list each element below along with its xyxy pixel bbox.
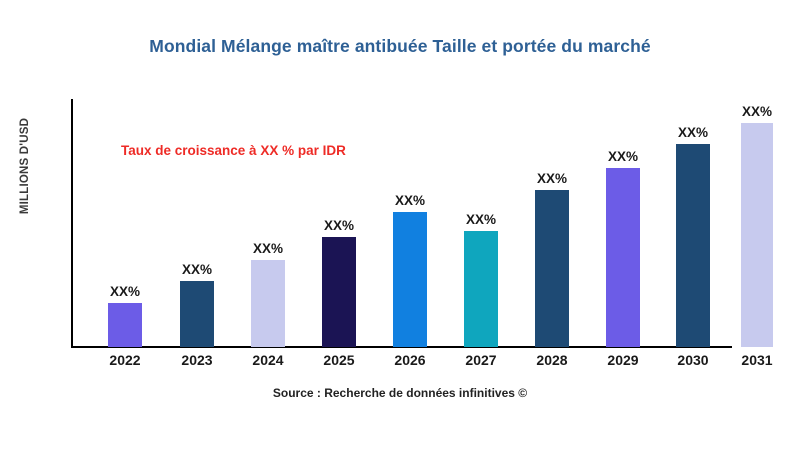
bar-value-label: XX% xyxy=(110,284,140,299)
bar-2026[interactable] xyxy=(393,212,427,347)
bar-value-label: XX% xyxy=(182,262,212,277)
x-tick-label-2029: 2029 xyxy=(593,352,653,368)
bar-group: XX% xyxy=(741,123,773,347)
bar-value-label: XX% xyxy=(466,212,496,227)
bar-group: XX% xyxy=(535,190,569,347)
bar-chart-figure: Mondial Mélange maître antibuée Taille e… xyxy=(0,0,800,450)
bar-value-label: XX% xyxy=(678,125,708,140)
x-tick-label-2025: 2025 xyxy=(309,352,369,368)
bar-group: XX% xyxy=(108,303,142,347)
bar-2024[interactable] xyxy=(251,260,285,347)
x-tick-label-2024: 2024 xyxy=(238,352,298,368)
source-note: Source : Recherche de données infinitive… xyxy=(0,386,800,400)
bar-value-label: XX% xyxy=(253,241,283,256)
bar-group: XX% xyxy=(676,144,710,347)
bar-2029[interactable] xyxy=(606,168,640,347)
bar-group: XX% xyxy=(180,281,214,347)
plot-area: XX%XX%XX%XX%XX%XX%XX%XX%XX%XX% xyxy=(0,0,800,450)
bar-group: XX% xyxy=(393,212,427,347)
bar-2025[interactable] xyxy=(322,237,356,347)
x-tick-label-2022: 2022 xyxy=(95,352,155,368)
x-tick-label-2031: 2031 xyxy=(727,352,787,368)
bar-value-label: XX% xyxy=(742,104,772,119)
bar-value-label: XX% xyxy=(537,171,567,186)
bar-value-label: XX% xyxy=(324,218,354,233)
bar-group: XX% xyxy=(251,260,285,347)
bar-value-label: XX% xyxy=(608,149,638,164)
bar-2027[interactable] xyxy=(464,231,498,347)
bar-2022[interactable] xyxy=(108,303,142,347)
bar-2023[interactable] xyxy=(180,281,214,347)
bar-2030[interactable] xyxy=(676,144,710,347)
x-tick-label-2023: 2023 xyxy=(167,352,227,368)
x-tick-label-2027: 2027 xyxy=(451,352,511,368)
bar-group: XX% xyxy=(464,231,498,347)
bar-group: XX% xyxy=(322,237,356,347)
bar-2028[interactable] xyxy=(535,190,569,347)
bar-group: XX% xyxy=(606,168,640,347)
x-tick-label-2026: 2026 xyxy=(380,352,440,368)
bar-2031[interactable] xyxy=(741,123,773,347)
x-tick-label-2028: 2028 xyxy=(522,352,582,368)
bar-value-label: XX% xyxy=(395,193,425,208)
x-tick-label-2030: 2030 xyxy=(663,352,723,368)
